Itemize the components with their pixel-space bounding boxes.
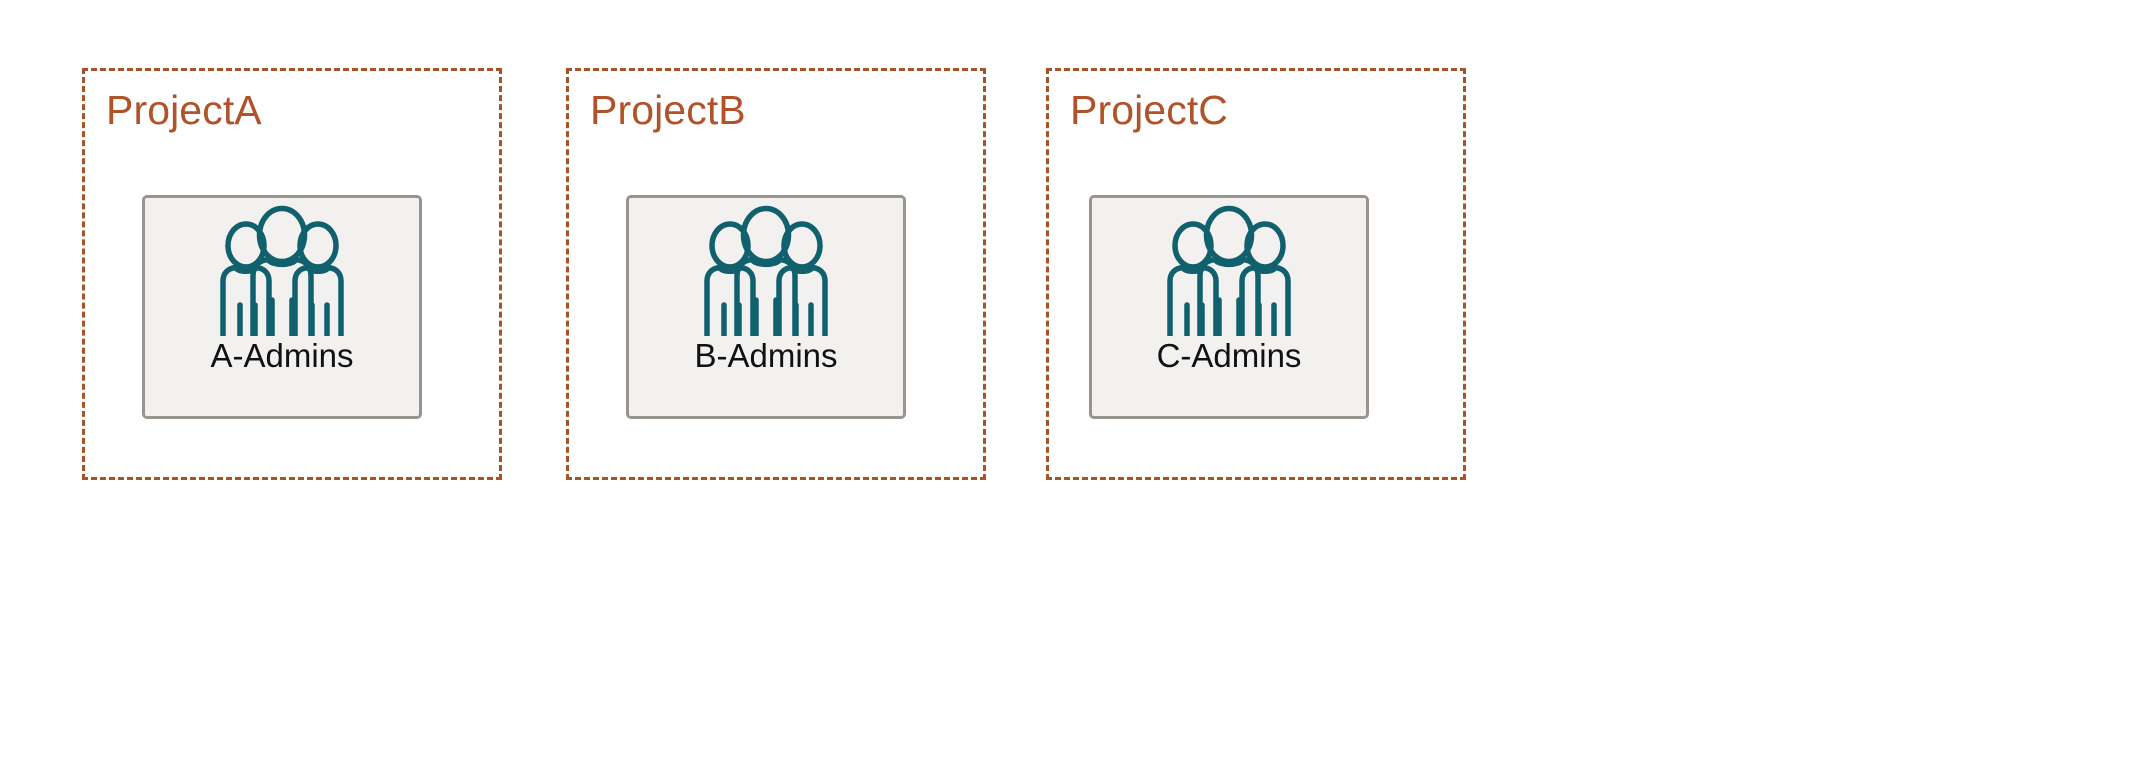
admin-group-card[interactable]: C-Admins [1089,195,1369,419]
diagram-canvas: ProjectA [0,0,2155,761]
project-title: ProjectB [590,87,746,134]
project-group-container[interactable]: ProjectB B-Admins [566,68,986,480]
people-group-icon [207,204,357,336]
admin-group-card[interactable]: B-Admins [626,195,906,419]
admin-group-card[interactable]: A-Admins [142,195,422,419]
group-label: C-Admins [1157,338,1302,374]
people-group-icon [691,204,841,336]
project-group-container[interactable]: ProjectA [82,68,502,480]
group-label: B-Admins [694,338,837,374]
people-group-icon [1154,204,1304,336]
project-group-container[interactable]: ProjectC C-Admins [1046,68,1466,480]
group-label: A-Admins [210,338,353,374]
project-title: ProjectC [1070,87,1228,134]
project-title: ProjectA [106,87,262,134]
